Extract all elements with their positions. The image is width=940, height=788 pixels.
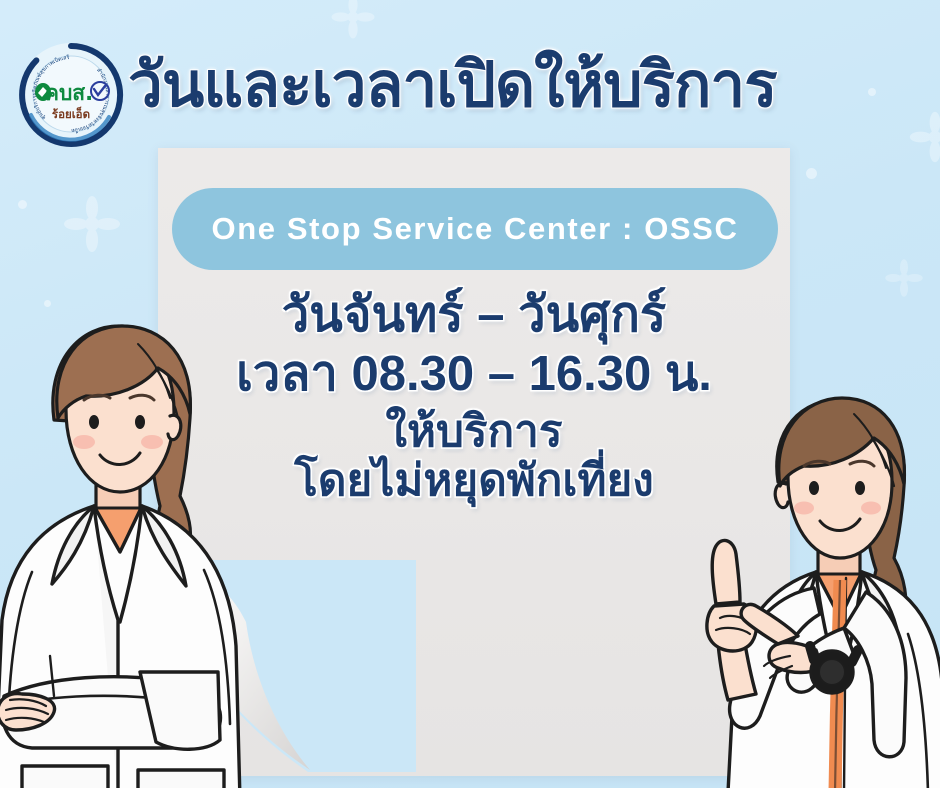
ossc-logo: ศูนย์บริการผลิตภัณฑ์สุขภาพเบ็ดเสร็จ สำนั… — [17, 41, 125, 149]
logo-abbrev: คบส. — [45, 81, 93, 105]
character-left-arms-crossed — [0, 300, 256, 788]
flower-decoration — [884, 258, 924, 298]
service-center-badge: One Stop Service Center : OSSC — [172, 188, 778, 270]
poster-canvas: ศูนย์บริการผลิตภัณฑ์สุขภาพเบ็ดเสร็จ สำนั… — [0, 0, 940, 788]
flower-decoration — [62, 194, 122, 254]
bokeh-dot — [18, 200, 27, 209]
page-title: วันและเวลาเปิดให้บริการ — [128, 36, 928, 136]
character-right-pointing-up — [694, 382, 940, 788]
flower-decoration — [330, 0, 376, 40]
service-center-badge-label: One Stop Service Center : OSSC — [212, 211, 739, 247]
bokeh-dot — [806, 168, 817, 179]
logo-province: ร้อยเอ็ด — [52, 106, 90, 121]
